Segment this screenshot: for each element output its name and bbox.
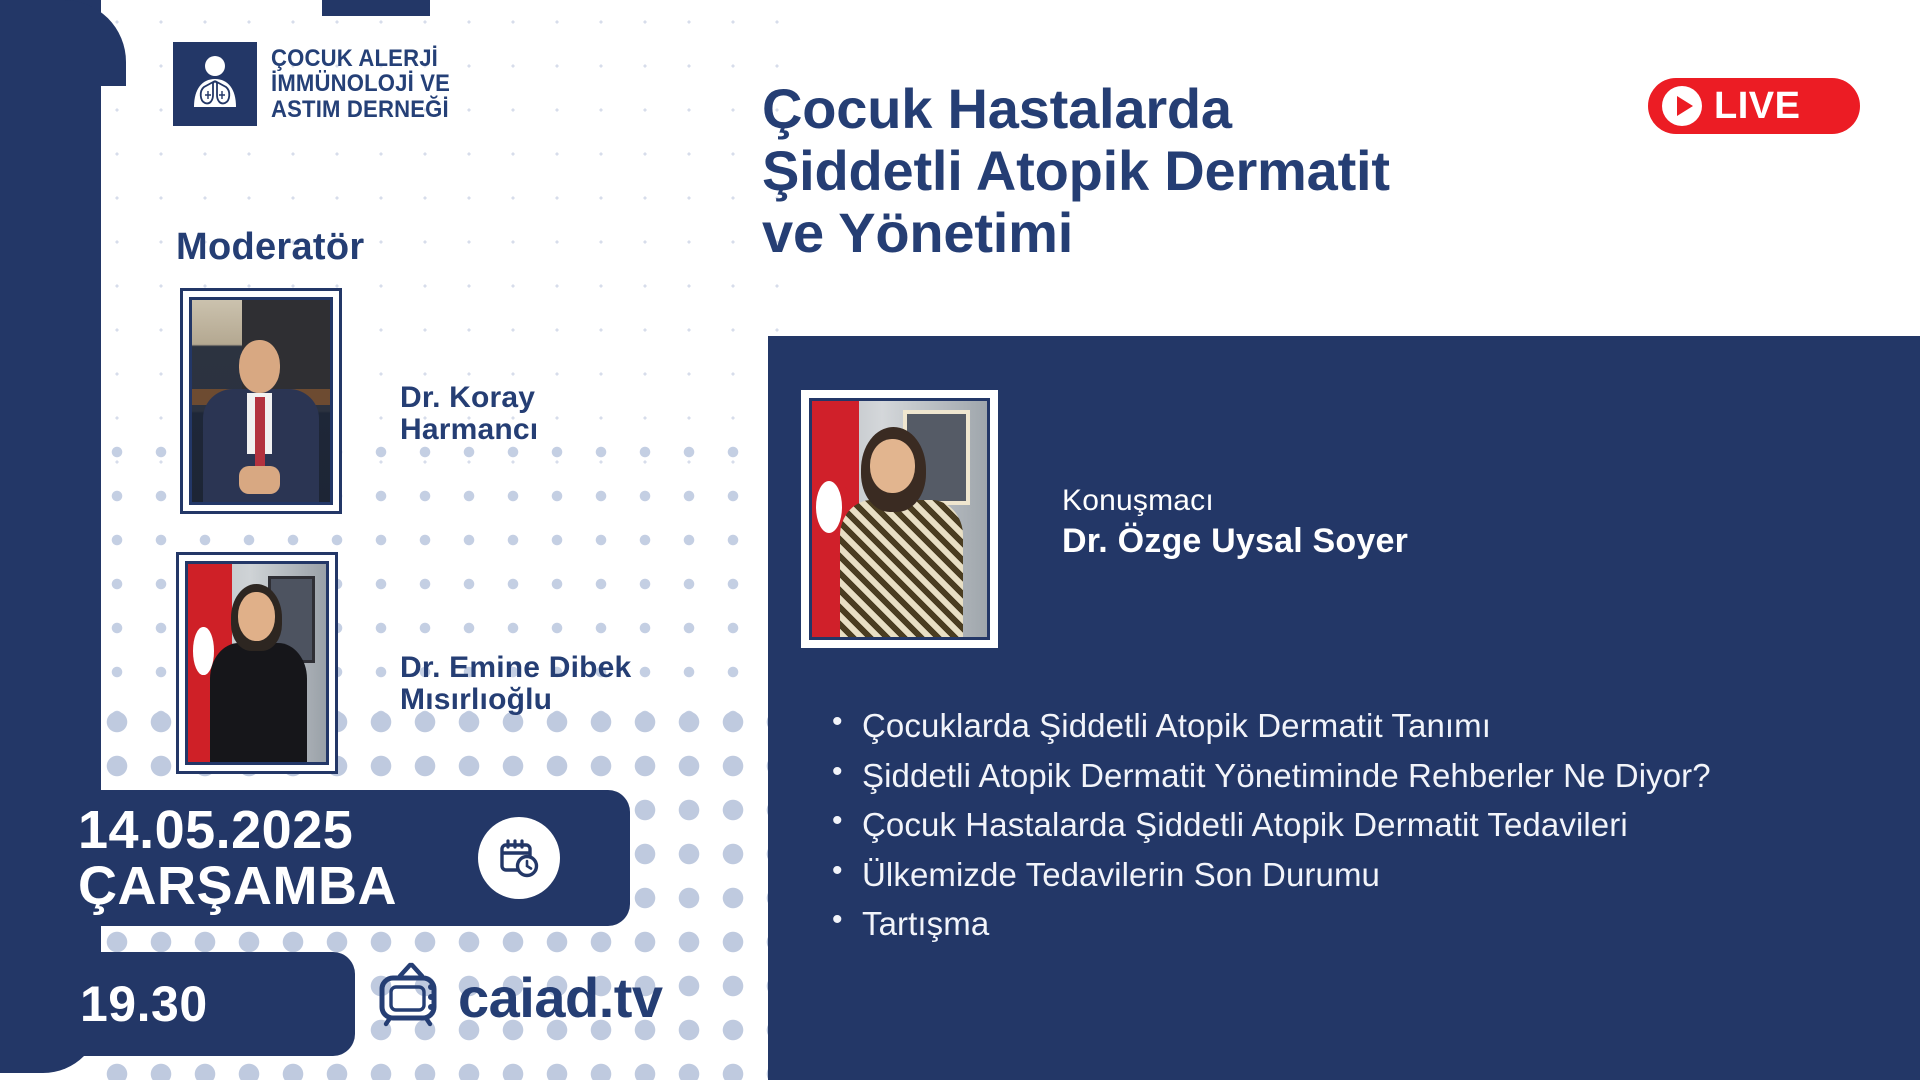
event-time-pill: 19.30 <box>0 952 355 1056</box>
list-item: Ülkemizde Tedavilerin Son Durumu <box>828 855 1858 896</box>
calendar-clock-icon <box>478 817 560 899</box>
play-icon <box>1662 86 1702 126</box>
list-item: Çocuk Hastalarda Şiddetli Atopik Dermati… <box>828 805 1858 846</box>
moderator-photo-1 <box>180 288 342 514</box>
channel-name: caiad.tv <box>458 965 663 1030</box>
moderator-name-2: Dr. Emine Dibek Mısırlıoğlu <box>400 652 710 717</box>
webinar-poster: ÇOCUK ALERJİ İMMÜNOLOJİ VE ASTIM DERNEĞİ… <box>0 0 1920 1080</box>
speaker-name: Dr. Özge Uysal Soyer <box>1062 522 1408 561</box>
event-date: 14.05.2025 ÇARŞAMBA <box>78 802 397 914</box>
association-name: ÇOCUK ALERJİ İMMÜNOLOJİ VE ASTIM DERNEĞİ <box>271 46 450 122</box>
list-item: Tartışma <box>828 904 1858 945</box>
moderator-heading: Moderatör <box>176 226 365 269</box>
event-date-pill: 14.05.2025 ÇARŞAMBA <box>0 790 630 926</box>
topic-list: Çocuklarda Şiddetli Atopik Dermatit Tanı… <box>828 706 1858 954</box>
person-lungs-icon <box>173 42 257 126</box>
moderator-name-1: Dr. Koray Harmancı <box>400 382 680 447</box>
association-logo: ÇOCUK ALERJİ İMMÜNOLOJİ VE ASTIM DERNEĞİ <box>173 42 466 126</box>
event-time: 19.30 <box>80 975 208 1033</box>
channel-row[interactable]: caiad.tv <box>378 962 663 1033</box>
tv-icon <box>378 962 450 1033</box>
speaker-role: Konuşmacı <box>1062 484 1214 518</box>
live-label: LIVE <box>1714 85 1800 128</box>
speaker-photo <box>797 386 1002 652</box>
list-item: Şiddetli Atopik Dermatit Yönetiminde Reh… <box>828 756 1858 797</box>
live-badge[interactable]: LIVE <box>1648 78 1860 134</box>
top-blue-tab <box>322 0 430 16</box>
top-left-corner-shape <box>60 0 126 86</box>
list-item: Çocuklarda Şiddetli Atopik Dermatit Tanı… <box>828 706 1858 747</box>
moderator-photo-2 <box>176 552 338 774</box>
page-title: Çocuk Hastalarda Şiddetli Atopik Dermati… <box>762 78 1662 264</box>
